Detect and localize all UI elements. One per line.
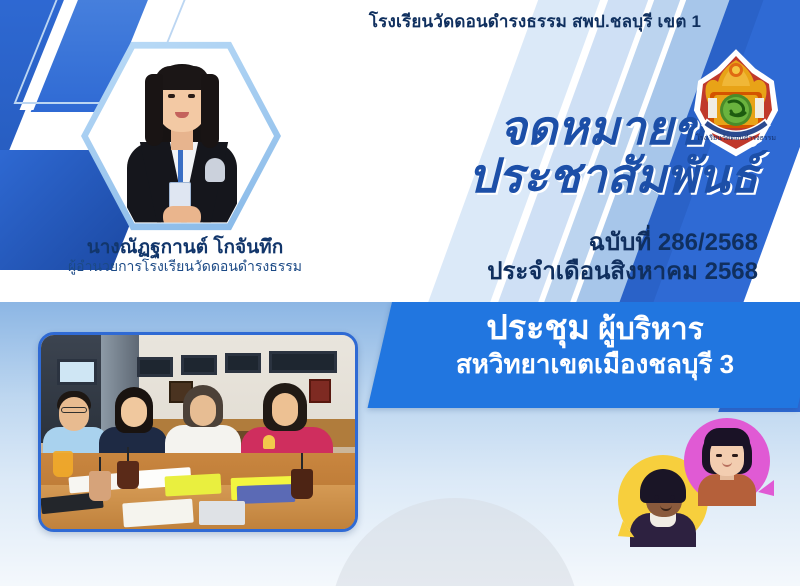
avatar-woman-eye-right: [732, 454, 738, 457]
emblem-caption: โรงเรียนวัดดอนดำรงธรรม: [696, 133, 776, 142]
school-emblem-icon: โรงเรียนวัดดอนดำรงธรรม: [684, 48, 788, 160]
avatar-man-eye-left: [654, 495, 659, 500]
issue-info: ฉบับที่ 286/2568 ประจำเดือนสิงหาคม 2568: [487, 228, 758, 287]
avatar-woman-bangs: [704, 428, 750, 446]
photo-cup-4: [291, 469, 313, 499]
photo-document-3: [165, 474, 222, 497]
issue-month: ประจำเดือนสิงหาคม 2568: [487, 257, 758, 286]
banner-line-2: สหวิทยาเขตเมืองชลบุรี 3: [398, 349, 792, 380]
director-portrait: [76, 36, 286, 236]
photo-window-1: [57, 359, 97, 385]
avatar-man-hair: [640, 469, 686, 503]
portrait-hair-right: [201, 74, 219, 148]
photo-cup-3: [117, 461, 139, 489]
avatar-bubble-woman: [684, 418, 770, 504]
photo-person-3-face: [190, 395, 216, 426]
portrait-lanyard: [178, 146, 183, 184]
photo-person-4-face: [272, 393, 298, 426]
avatar-woman-eye-left: [716, 454, 722, 457]
avatar-man-eye-right: [670, 495, 675, 500]
news-banner-text: ประชุม ผู้บริหาร สหวิทยาเขตเมืองชลบุรี 3: [398, 308, 792, 381]
banner-keyword: ประชุม: [486, 309, 590, 347]
photo-person-1-head: [59, 397, 89, 431]
banner-line-1: ประชุม ผู้บริหาร: [398, 308, 792, 349]
photo-person-4-emblem: [263, 435, 275, 449]
portrait-uniform-emblem: [205, 158, 225, 182]
photo-document-5: [237, 484, 296, 504]
newsletter-poster: โรงเรียนวัดดอนดำรงธรรม สพป.ชลบุรี เขต 1: [0, 0, 800, 586]
photo-window-4: [225, 353, 261, 373]
portrait-eye-left: [168, 94, 175, 98]
photo-tissue-box: [199, 501, 245, 525]
director-role: ผู้อำนวยการโรงเรียนวัดดอนดำรงธรรม: [0, 256, 370, 278]
photo-window-5: [269, 351, 337, 373]
photo-document-6: [122, 499, 194, 528]
photo-window-2: [137, 357, 173, 377]
decor-circle: [330, 498, 580, 586]
photo-person-1-glasses: [61, 407, 87, 413]
portrait-eye-right: [188, 94, 195, 98]
issue-number: ฉบับที่ 286/2568: [487, 228, 758, 257]
photo-person-2-face: [121, 397, 147, 427]
page-title: โรงเรียนวัดดอนดำรงธรรม สพป.ชลบุรี เขต 1: [300, 8, 770, 35]
banner-subject: ผู้บริหาร: [590, 313, 704, 346]
portrait-hair-left: [145, 74, 163, 146]
photo-cup-1: [53, 451, 73, 477]
top-section: โรงเรียนวัดดอนดำรงธรรม สพป.ชลบุรี เขต 1: [0, 0, 800, 302]
photo-cup-2: [89, 471, 111, 501]
meeting-photo[interactable]: [38, 332, 358, 532]
photo-wall-frame-2: [309, 379, 331, 403]
photo-window-3: [181, 355, 217, 375]
